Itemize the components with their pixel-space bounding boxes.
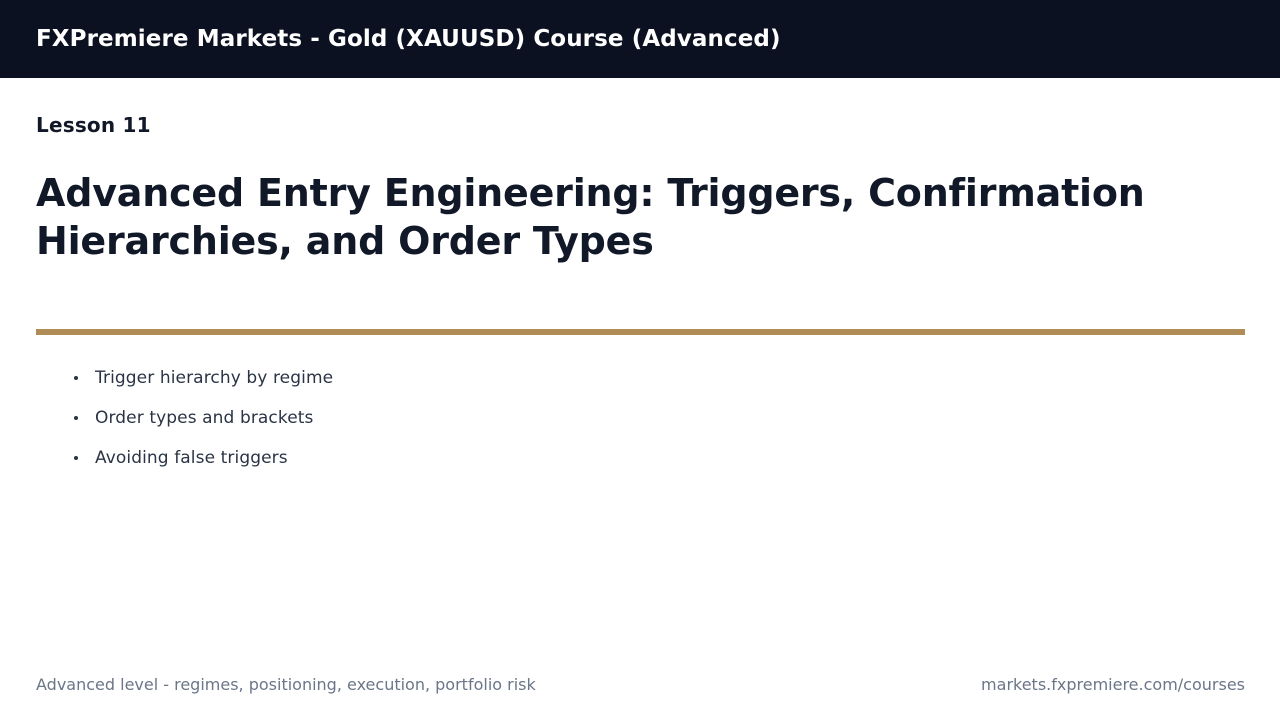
list-item: Avoiding false triggers bbox=[36, 438, 1216, 478]
lesson-number-label: Lesson 11 bbox=[36, 113, 151, 137]
course-header-title: FXPremiere Markets - Gold (XAUUSD) Cours… bbox=[36, 26, 781, 52]
list-item-label: Avoiding false triggers bbox=[95, 448, 288, 468]
slide-title: Advanced Entry Engineering: Triggers, Co… bbox=[36, 169, 1216, 265]
bullet-dot-icon bbox=[74, 416, 78, 420]
bullet-dot-icon bbox=[74, 456, 78, 460]
list-item-label: Order types and brackets bbox=[95, 408, 314, 428]
list-item: Trigger hierarchy by regime bbox=[36, 358, 1216, 398]
footer-course-level-text: Advanced level - regimes, positioning, e… bbox=[36, 675, 536, 694]
footer-site-url: markets.fxpremiere.com/courses bbox=[981, 675, 1245, 694]
slide-bullet-list: Trigger hierarchy by regime Order types … bbox=[36, 358, 1216, 478]
course-slide: FXPremiere Markets - Gold (XAUUSD) Cours… bbox=[0, 0, 1280, 720]
gold-divider-rule bbox=[36, 329, 1245, 335]
list-item: Order types and brackets bbox=[36, 398, 1216, 438]
bullet-dot-icon bbox=[74, 376, 78, 380]
list-item-label: Trigger hierarchy by regime bbox=[95, 368, 333, 388]
course-header-bar: FXPremiere Markets - Gold (XAUUSD) Cours… bbox=[0, 0, 1280, 78]
slide-content: Lesson 11 Advanced Entry Engineering: Tr… bbox=[0, 78, 1280, 720]
